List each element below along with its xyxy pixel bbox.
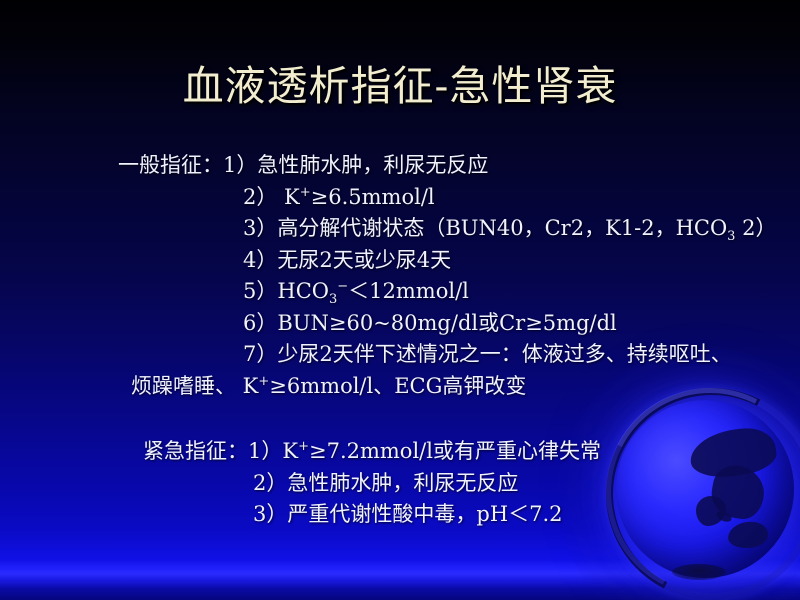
text-sup: +	[298, 439, 309, 454]
text-run: 严重代谢性酸中毒，pH＜7.2	[287, 502, 562, 526]
globe-stand-shadow	[672, 564, 726, 580]
section-heading: 一般指征：	[118, 153, 223, 177]
slide-title: 血液透析指征-急性肾衰	[0, 64, 800, 109]
list-marker: 6）	[243, 311, 277, 335]
list-item: 5）HCO3−＜12mmol/l	[0, 276, 800, 308]
section-heading-line: 一般指征：1）急性肺水肿，利尿无反应	[0, 150, 800, 182]
list-item: 4）无尿2天或少尿4天	[0, 245, 800, 277]
text-run: HCO	[277, 279, 329, 303]
text-run: 烦躁嗜睡、 K	[131, 374, 258, 398]
list-item: 7）少尿2天伴下述情况之一：体液过多、持续呕吐、	[0, 339, 800, 371]
presentation-slide: 血液透析指征-急性肾衰 一般指征：1）急性肺水肿，利尿无反应2） K+≥6.5m…	[0, 0, 800, 600]
text-run: K	[277, 185, 299, 209]
text-sup: +	[258, 374, 269, 389]
section-heading-line: 紧急指征：1）K+≥7.2mmol/l或有严重心律失常	[0, 436, 800, 468]
list-marker: 1）	[223, 153, 257, 177]
text-run: K	[282, 439, 298, 463]
bottom-accent-band	[0, 560, 800, 600]
text-sup: −	[337, 279, 348, 294]
text-run: 急性肺水肿，利尿无反应	[257, 153, 488, 177]
text-run: ＜12mmol/l	[348, 279, 469, 303]
list-item: 3）高分解代谢状态（BUN40，Cr2，K1-2，HCO3 2）	[0, 213, 800, 245]
text-run: 高分解代谢状态（BUN40，Cr2，K1-2，HCO	[277, 216, 727, 240]
text-run: 少尿2天伴下述情况之一：体液过多、持续呕吐、	[277, 342, 731, 366]
section-heading: 紧急指征：	[143, 439, 248, 463]
text-run: ≥6mmol/l、ECG高钾改变	[269, 374, 526, 398]
list-item: 2）急性肺水肿，利尿无反应	[0, 468, 800, 500]
list-marker: 5）	[243, 279, 277, 303]
text-sup: +	[300, 185, 311, 200]
text-run: BUN≥60~80mg/dl或Cr≥5mg/dl	[277, 311, 616, 335]
list-item: 3）严重代谢性酸中毒，pH＜7.2	[0, 499, 800, 531]
list-marker: 3）	[243, 216, 277, 240]
text-run: 2）	[735, 216, 776, 240]
list-marker: 1）	[248, 439, 282, 463]
list-item: 6）BUN≥60~80mg/dl或Cr≥5mg/dl	[0, 308, 800, 340]
section-gap	[0, 402, 800, 436]
list-marker: 3）	[253, 502, 287, 526]
slide-body: 一般指征：1）急性肺水肿，利尿无反应2） K+≥6.5mmol/l3）高分解代谢…	[0, 150, 800, 531]
text-run: 无尿2天或少尿4天	[277, 248, 451, 272]
list-item-continuation: 烦躁嗜睡、 K+≥6mmol/l、ECG高钾改变	[0, 371, 800, 403]
list-item: 2） K+≥6.5mmol/l	[0, 182, 800, 214]
text-sub: 3	[329, 292, 337, 307]
list-marker: 2）	[253, 471, 287, 495]
text-run: ≥7.2mmol/l或有严重心律失常	[309, 439, 601, 463]
text-run: ≥6.5mmol/l	[311, 185, 435, 209]
list-marker: 2）	[243, 185, 277, 209]
text-run: 急性肺水肿，利尿无反应	[287, 471, 518, 495]
list-marker: 7）	[243, 342, 277, 366]
list-marker: 4）	[243, 248, 277, 272]
